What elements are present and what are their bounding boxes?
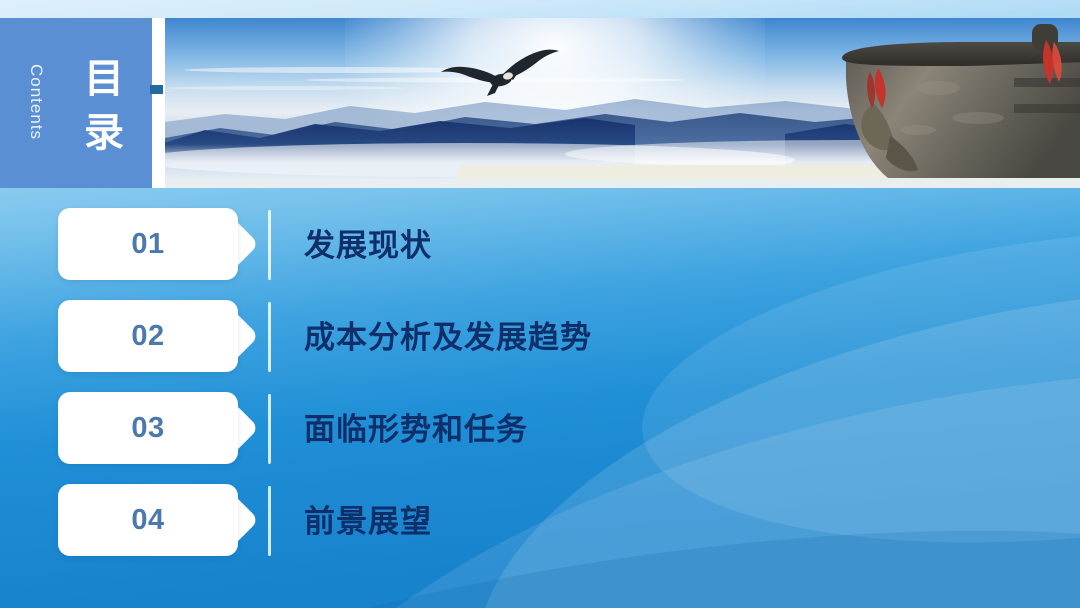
contents-title-cn: 目 录: [78, 52, 130, 160]
agenda-divider-02: [268, 302, 271, 372]
agenda-number-04: 04: [58, 484, 238, 556]
contents-title-block: Contents 目 录: [0, 18, 152, 188]
agenda-number-tag-02[interactable]: 02: [58, 300, 258, 372]
contents-title-cn-char-1: 目: [78, 52, 130, 106]
agenda-divider-01: [268, 210, 271, 280]
header-banner-image: [165, 18, 1080, 188]
agenda-item-01[interactable]: 01 发展现状: [0, 200, 1080, 292]
header-tab-marker: [150, 85, 163, 94]
agenda-list: 01 发展现状 02 成本分析及发展趋势 03 面临形势和任务: [0, 196, 1080, 608]
agenda-title-01: 发展现状: [304, 200, 432, 292]
agenda-item-03[interactable]: 03 面临形势和任务: [0, 384, 1080, 476]
agenda-divider-04: [268, 486, 271, 556]
agenda-number-tag-03[interactable]: 03: [58, 392, 258, 464]
header-gutter: [152, 18, 165, 188]
bronze-ding-vessel: [818, 18, 1080, 188]
contents-title-en: Contents: [26, 64, 46, 140]
agenda-number-01: 01: [58, 208, 238, 280]
contents-title-cn-char-2: 录: [78, 106, 130, 160]
agenda-title-04: 前景展望: [304, 476, 432, 568]
agenda-number-02: 02: [58, 300, 238, 372]
agenda-item-02[interactable]: 02 成本分析及发展趋势: [0, 292, 1080, 384]
eagle-icon: [437, 44, 567, 114]
slide-canvas: Contents 目 录 01 发展现状 02 成本分析及发展趋势: [0, 0, 1080, 608]
agenda-item-04[interactable]: 04 前景展望: [0, 476, 1080, 568]
agenda-title-02: 成本分析及发展趋势: [304, 292, 592, 384]
agenda-number-03: 03: [58, 392, 238, 464]
agenda-title-03: 面临形势和任务: [304, 384, 528, 476]
agenda-divider-03: [268, 394, 271, 464]
agenda-number-tag-04[interactable]: 04: [58, 484, 258, 556]
agenda-number-tag-01[interactable]: 01: [58, 208, 258, 280]
banner-bottom-edge: [165, 179, 1080, 188]
